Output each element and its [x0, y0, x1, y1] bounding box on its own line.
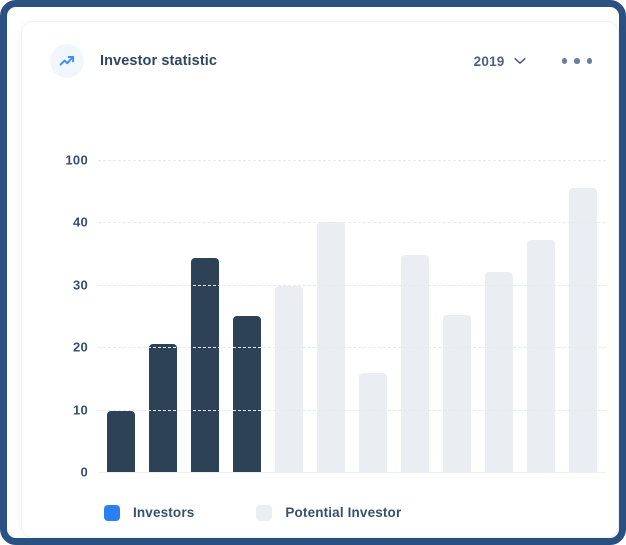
selection-frame: Investor statistic 2019: [0, 0, 626, 545]
axis-baseline: [98, 472, 606, 473]
year-selector-value: 2019: [474, 54, 505, 69]
card-header: Investor statistic 2019: [22, 22, 620, 100]
bar[interactable]: [275, 286, 303, 472]
gridline: [98, 285, 606, 286]
gridline: [98, 222, 606, 223]
page-title: Investor statistic: [100, 53, 217, 69]
y-axis-tick-label: 20: [73, 340, 88, 355]
y-axis-tick-label: 100: [65, 152, 88, 167]
y-axis-tick-label: 40: [73, 215, 88, 230]
bar[interactable]: [569, 188, 597, 472]
more-dot-3: [587, 58, 593, 64]
y-axis-tick-label: 10: [73, 402, 88, 417]
y-axis-tick-label: 0: [80, 465, 88, 480]
gridline: [98, 160, 606, 161]
bar[interactable]: [233, 316, 261, 472]
investor-statistic-card: Investor statistic 2019: [21, 21, 619, 538]
bar[interactable]: [149, 344, 177, 472]
legend-item[interactable]: Potential Investor: [256, 505, 401, 521]
trending-up-icon: [50, 44, 84, 78]
chart-legend: InvestorsPotential Investor: [22, 486, 620, 539]
more-dot-2: [574, 58, 580, 64]
bar[interactable]: [401, 255, 429, 473]
bar-chart: 010203040100: [22, 100, 620, 486]
chevron-down-icon: [514, 57, 526, 65]
bar[interactable]: [443, 315, 471, 473]
card-header-left: Investor statistic: [50, 44, 474, 78]
y-axis: 010203040100: [22, 100, 98, 486]
legend-label: Potential Investor: [285, 505, 401, 520]
more-horizontal-icon[interactable]: [560, 54, 595, 68]
bar-group: [100, 100, 604, 472]
legend-color-swatch: [104, 505, 120, 521]
bar[interactable]: [191, 258, 219, 472]
legend-label: Investors: [133, 505, 194, 520]
year-selector[interactable]: 2019: [474, 54, 526, 69]
legend-item[interactable]: Investors: [104, 505, 194, 521]
plot-grid-area: [98, 100, 606, 486]
bar[interactable]: [485, 272, 513, 472]
more-dot-1: [562, 58, 568, 64]
gridline: [98, 347, 606, 348]
bar[interactable]: [359, 373, 387, 472]
card-header-right: 2019: [474, 54, 594, 69]
bar[interactable]: [527, 240, 555, 473]
bar[interactable]: [107, 411, 135, 472]
gridline: [98, 410, 606, 411]
legend-color-swatch: [256, 505, 272, 521]
y-axis-tick-label: 30: [73, 277, 88, 292]
